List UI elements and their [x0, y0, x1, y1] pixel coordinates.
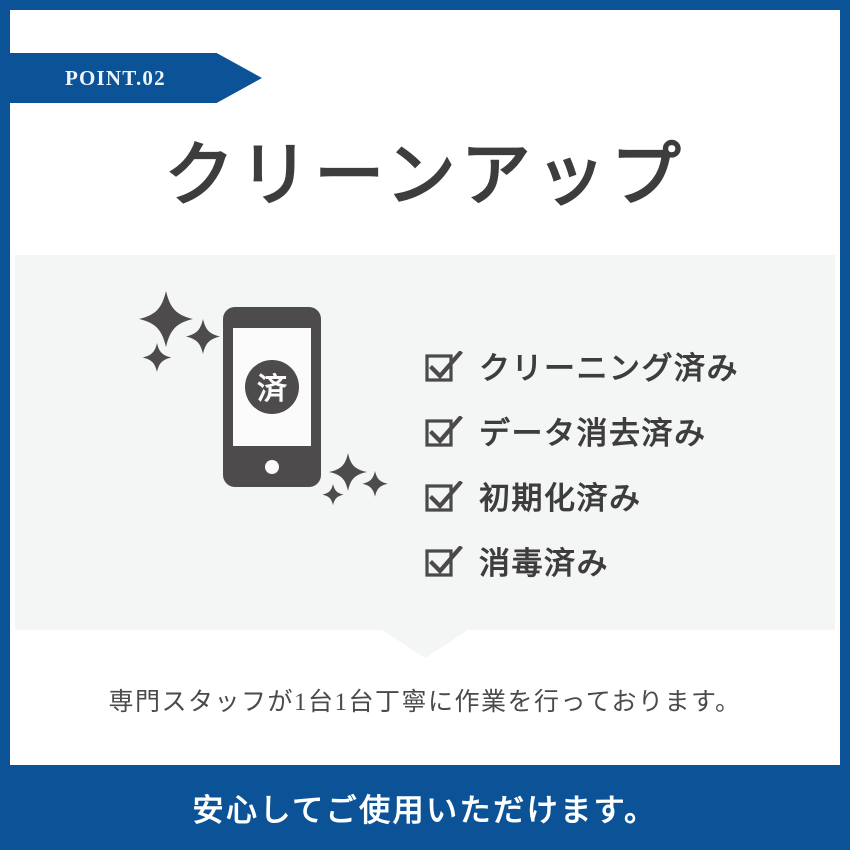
- list-item: 消毒済み: [425, 528, 805, 593]
- point-card: POINT.02 クリーンアップ 済: [0, 0, 850, 850]
- card-inner-surface: POINT.02 クリーンアップ 済: [10, 10, 840, 765]
- footer-bar: 安心してご使用いただけます。: [0, 765, 850, 850]
- list-item-label: データ消去済み: [479, 408, 707, 453]
- checkbox-checked-icon: [425, 351, 455, 381]
- point-banner: POINT.02: [10, 53, 262, 103]
- checkbox-checked-icon: [425, 481, 455, 511]
- sparkle-cluster-bottom-right: [322, 453, 387, 505]
- checkbox-checked-icon: [425, 416, 455, 446]
- list-item: クリーニング済み: [425, 333, 805, 398]
- list-item-label: 消毒済み: [479, 538, 609, 583]
- list-item-label: 初期化済み: [479, 473, 642, 518]
- smartphone-icon: 済: [223, 307, 321, 487]
- footer-bar-text: 安心してご使用いただけます。: [193, 785, 658, 830]
- list-item-label: クリーニング済み: [479, 343, 739, 388]
- svg-text:済: 済: [257, 373, 288, 406]
- sparkle-cluster-top-left: [139, 291, 220, 372]
- caption-text: 専門スタッフが1台1台丁寧に作業を行っております。: [10, 682, 840, 718]
- panel-notch-triangle: [382, 630, 468, 658]
- list-item: 初期化済み: [425, 463, 805, 528]
- point-banner-label: POINT.02: [10, 66, 166, 91]
- list-item: データ消去済み: [425, 398, 805, 463]
- checklist: クリーニング済み データ消去済み: [425, 333, 805, 593]
- checkbox-checked-icon: [425, 546, 455, 576]
- content-panel: 済: [15, 255, 835, 630]
- page-title: クリーンアップ: [10, 138, 840, 215]
- smartphone-illustration: 済: [133, 275, 423, 575]
